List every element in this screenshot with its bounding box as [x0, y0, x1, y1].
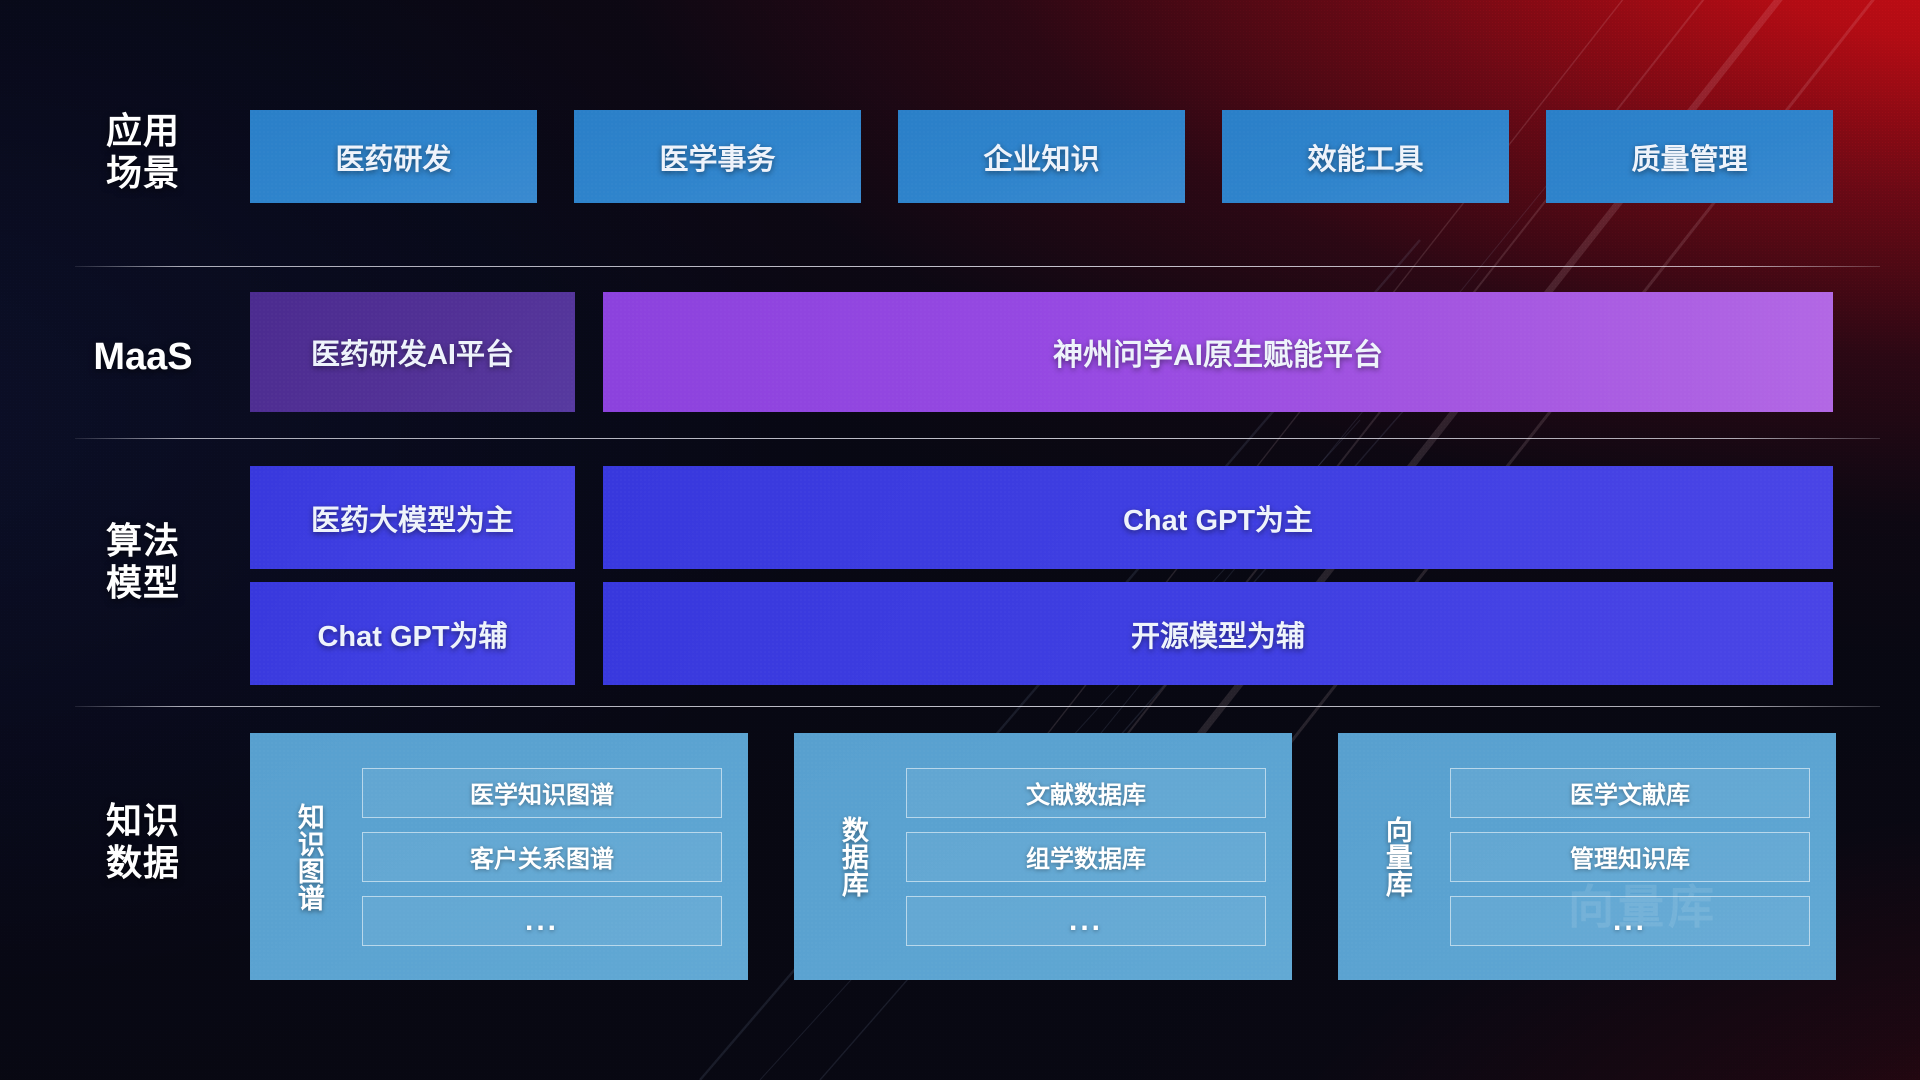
- algo-box-chatgpt-primary[interactable]: Chat GPT为主: [603, 466, 1833, 569]
- divider-maas-algorithm: [75, 438, 1880, 439]
- knowledge-group-title-text: 数据库: [837, 816, 867, 897]
- knowledge-group-title-text: 知识图谱: [293, 803, 323, 911]
- knowledge-group-knowledge-graph: 知识图谱 医学知识图谱 客户关系图谱 ...: [250, 733, 748, 980]
- knowledge-group-title: 向量库: [1364, 816, 1428, 897]
- knowledge-group-vector-database: 向量库 向量库 医学文献库 管理知识库 ...: [1338, 733, 1836, 980]
- knowledge-item[interactable]: 文献数据库: [906, 768, 1266, 818]
- knowledge-item-more[interactable]: ...: [906, 896, 1266, 946]
- algo-box-chatgpt-auxiliary[interactable]: Chat GPT为辅: [250, 582, 575, 685]
- diagram-canvas: 应用 场景 医药研发 医学事务 企业知识 效能工具 质量管理 MaaS 医药研发…: [0, 0, 1920, 1080]
- app-box-medical-affairs[interactable]: 医学事务: [574, 110, 861, 203]
- knowledge-group-title: 数据库: [820, 816, 884, 897]
- divider-algorithm-knowledge: [75, 706, 1880, 707]
- divider-application-maas: [75, 266, 1880, 267]
- maas-box-label: 神州问学AI原生赋能平台: [1053, 330, 1383, 374]
- algo-box-medicine-large-model-primary[interactable]: 医药大模型为主: [250, 466, 575, 569]
- app-box-efficiency-tools[interactable]: 效能工具: [1222, 110, 1509, 203]
- maas-box-medicine-rd-ai-platform[interactable]: 医药研发AI平台: [250, 292, 575, 412]
- knowledge-item-more[interactable]: ...: [362, 896, 722, 946]
- row-label-maas: MaaS: [78, 335, 208, 379]
- knowledge-group-items: 文献数据库 组学数据库 ...: [884, 750, 1292, 964]
- row-label-knowledge-data: 知识 数据: [78, 800, 208, 884]
- app-box-label: 医学事务: [659, 136, 775, 178]
- row-label-algorithm-model: 算法 模型: [78, 520, 208, 604]
- maas-box-label: 医药研发AI平台: [311, 331, 514, 373]
- knowledge-group-database: 数据库 文献数据库 组学数据库 ...: [794, 733, 1292, 980]
- knowledge-group-items: 医学知识图谱 客户关系图谱 ...: [340, 750, 748, 964]
- knowledge-item-more[interactable]: ...: [1450, 896, 1810, 946]
- app-box-enterprise-knowledge[interactable]: 企业知识: [898, 110, 1185, 203]
- algo-box-label: Chat GPT为辅: [317, 613, 507, 655]
- knowledge-group-title: 知识图谱: [276, 803, 340, 911]
- knowledge-item[interactable]: 医学文献库: [1450, 768, 1810, 818]
- app-box-quality-management[interactable]: 质量管理: [1546, 110, 1833, 203]
- app-box-label: 质量管理: [1631, 136, 1747, 178]
- algo-box-label: 开源模型为辅: [1131, 613, 1305, 655]
- knowledge-group-items: 医学文献库 管理知识库 ...: [1428, 750, 1836, 964]
- app-box-medicine-rd[interactable]: 医药研发: [250, 110, 537, 203]
- algo-box-label: Chat GPT为主: [1123, 497, 1313, 539]
- knowledge-group-title-text: 向量库: [1381, 816, 1411, 897]
- knowledge-item[interactable]: 医学知识图谱: [362, 768, 722, 818]
- knowledge-item[interactable]: 管理知识库: [1450, 832, 1810, 882]
- maas-box-shenzhou-wenxue-platform[interactable]: 神州问学AI原生赋能平台: [603, 292, 1833, 412]
- app-box-label: 医药研发: [335, 136, 451, 178]
- knowledge-item[interactable]: 客户关系图谱: [362, 832, 722, 882]
- algo-box-label: 医药大模型为主: [311, 497, 514, 539]
- knowledge-item[interactable]: 组学数据库: [906, 832, 1266, 882]
- algo-box-opensource-model-auxiliary[interactable]: 开源模型为辅: [603, 582, 1833, 685]
- app-box-label: 企业知识: [983, 136, 1099, 178]
- app-box-label: 效能工具: [1307, 136, 1423, 178]
- row-label-application-scenarios: 应用 场景: [78, 110, 208, 194]
